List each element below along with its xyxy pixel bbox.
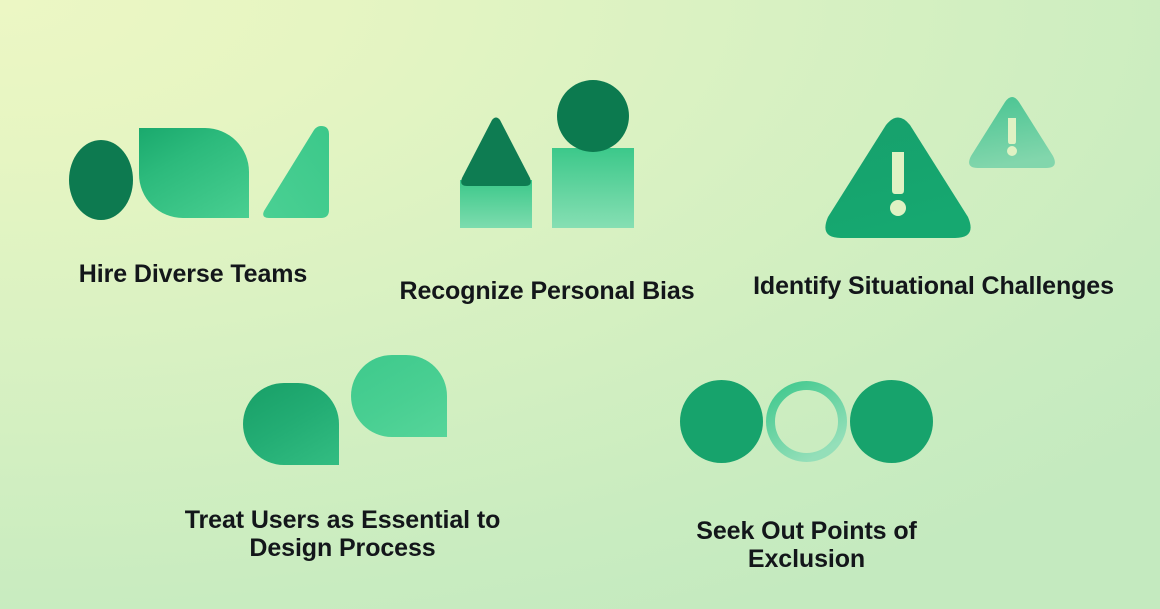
principle-card-recognize-personal-bias: Recognize Personal Bias (387, 80, 707, 305)
light-rectangle-shape (460, 180, 532, 228)
filled-circle-right-shape (850, 380, 933, 463)
principle-card-identify-situational-challenges: Identify Situational Challenges (707, 96, 1160, 300)
principle-card-seek-out-points-of-exclusion: Seek Out Points of Exclusion (620, 380, 993, 574)
shapes-circle-leaf-triangle-icon (59, 118, 327, 218)
light-speech-bubble-shape (351, 355, 447, 437)
dark-oval-shape (69, 140, 133, 220)
dark-triangle-shape (460, 116, 532, 186)
dark-speech-bubble-shape (243, 383, 339, 465)
principle-caption: Identify Situational Challenges (753, 272, 1114, 300)
principle-caption: Seek Out Points of Exclusion (696, 517, 916, 574)
dark-circle-shape (557, 80, 629, 152)
warning-triangles-icon (824, 96, 1044, 236)
small-warning-triangle-icon (968, 96, 1056, 168)
principles-board: Hire Diverse Teams Recognize Personal Bi… (0, 0, 1160, 609)
two-speech-bubbles-icon (243, 355, 443, 465)
three-circles-with-ring-icon (680, 380, 933, 475)
gradient-leaf-shape (139, 128, 249, 218)
filled-circle-left-shape (680, 380, 763, 463)
principle-card-hire-diverse-teams: Hire Diverse Teams (0, 118, 386, 288)
triangle-square-circle-square-icon (460, 80, 635, 235)
principle-caption: Hire Diverse Teams (79, 260, 307, 288)
principle-card-treat-users-as-essential: Treat Users as Essential to Design Proce… (157, 355, 528, 563)
light-square-shape (552, 148, 634, 228)
outlined-ring-shape (766, 381, 847, 462)
principle-caption: Treat Users as Essential to Design Proce… (185, 506, 501, 563)
light-right-triangle-shape (259, 126, 329, 218)
principle-caption: Recognize Personal Bias (399, 277, 694, 305)
large-warning-triangle-icon (824, 116, 972, 238)
